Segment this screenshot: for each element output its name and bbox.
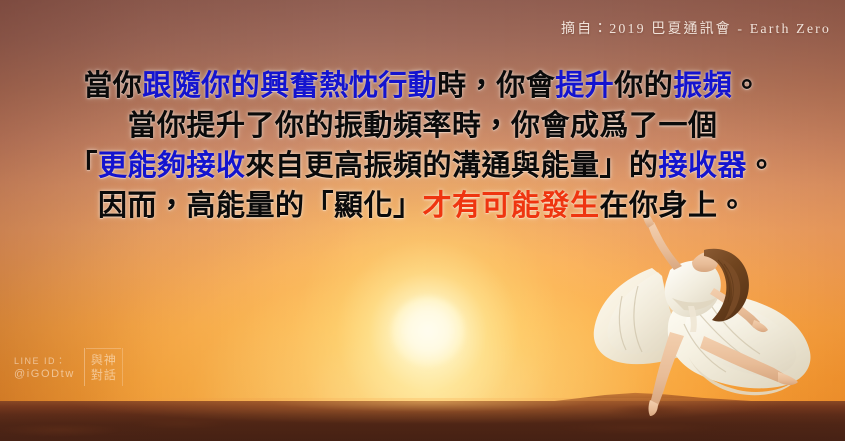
quote-segment: 時，你會 bbox=[437, 70, 555, 102]
brand-rule bbox=[86, 348, 121, 349]
quote-segment: 。 bbox=[732, 70, 762, 102]
watermark-line-id: LINE ID： @iGODtw bbox=[14, 355, 75, 381]
quote-segment: 當你提升了你的振動頻率時，你會成爲了一個 bbox=[127, 110, 717, 142]
brand-line-2: 對話 bbox=[91, 368, 117, 383]
quote-card: 摘自：2019 巴夏通訊會 - Earth Zero 當你跟隨你的興奮熱忱行動時… bbox=[0, 0, 845, 441]
quote-segment: 你的 bbox=[614, 70, 673, 102]
line-id-value: @iGODtw bbox=[14, 368, 75, 381]
line-id-label: LINE ID： bbox=[14, 355, 75, 368]
quote-segment: 「 bbox=[68, 150, 98, 182]
quote-segment: 當你 bbox=[83, 70, 142, 102]
quote-line-2: 當你提升了你的振動頻率時，你會成爲了一個 bbox=[0, 106, 845, 146]
quote-segment-highlight: 振頻 bbox=[673, 70, 732, 102]
quote-line-3: 「更能夠接收來自更高振頻的溝通與能量」的接收器。 bbox=[0, 146, 845, 186]
quote-segment: 來自更高振頻的溝通與能量」的 bbox=[245, 150, 658, 182]
watermark-brand: 與神 對話 bbox=[84, 351, 123, 385]
quote-segment: 在你身上。 bbox=[600, 190, 748, 222]
quote-segment: 因而，高能量的「顯化」 bbox=[98, 190, 423, 222]
quote-segment-highlight: 跟隨你的興奮熱忱行動 bbox=[142, 70, 437, 102]
source-attribution: 摘自：2019 巴夏通訊會 - Earth Zero bbox=[561, 18, 831, 38]
quote-segment: 。 bbox=[747, 150, 777, 182]
quote-segment-emphasis: 才有可能發生 bbox=[422, 190, 599, 222]
quote-segment-highlight: 接收器 bbox=[659, 150, 748, 182]
quote-segment-highlight: 更能夠接收 bbox=[98, 150, 246, 182]
watermark: LINE ID： @iGODtw 與神 對話 bbox=[14, 351, 123, 385]
quote-block: 當你跟隨你的興奮熱忱行動時，你會提升你的振頻。 當你提升了你的振動頻率時，你會成… bbox=[0, 66, 845, 226]
quote-line-1: 當你跟隨你的興奮熱忱行動時，你會提升你的振頻。 bbox=[0, 66, 845, 106]
quote-line-4: 因而，高能量的「顯化」才有可能發生在你身上。 bbox=[0, 186, 845, 226]
brand-line-1: 與神 bbox=[91, 353, 117, 368]
quote-segment-highlight: 提升 bbox=[555, 70, 614, 102]
